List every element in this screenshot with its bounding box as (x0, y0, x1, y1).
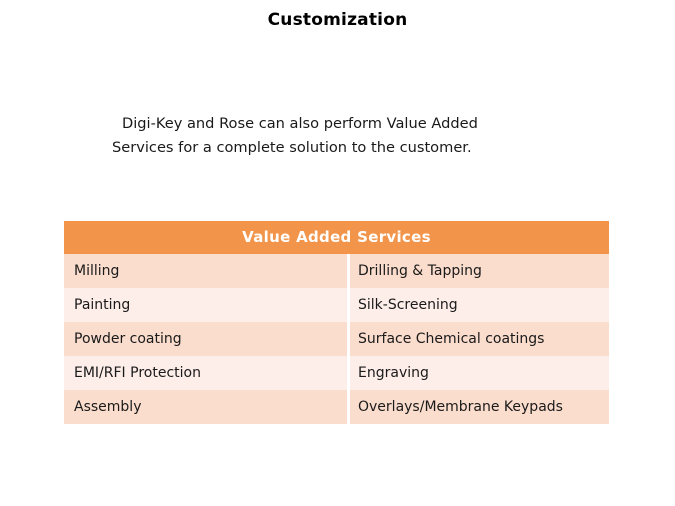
table-cell-service: Silk-Screening (349, 288, 610, 322)
slide-canvas: Customization Digi-Key and Rose can also… (0, 0, 675, 506)
table-header-row: Value Added Services (64, 221, 609, 254)
table-cell-service: Engraving (349, 356, 610, 390)
table-row: Assembly Overlays/Membrane Keypads (64, 390, 609, 424)
table-cell-service: EMI/RFI Protection (64, 356, 349, 390)
table-cell-service: Assembly (64, 390, 349, 424)
table-body: Milling Drilling & Tapping Painting Silk… (64, 254, 609, 424)
table-row: Milling Drilling & Tapping (64, 254, 609, 288)
table-cell-service: Surface Chemical coatings (349, 322, 610, 356)
table-row: EMI/RFI Protection Engraving (64, 356, 609, 390)
table-cell-service: Overlays/Membrane Keypads (349, 390, 610, 424)
table-header-cell: Value Added Services (64, 221, 609, 254)
page-title: Customization (0, 10, 675, 30)
table-cell-service: Milling (64, 254, 349, 288)
table-header-label: Value Added Services (64, 221, 609, 254)
table-cell-service: Painting (64, 288, 349, 322)
table-row: Powder coating Surface Chemical coatings (64, 322, 609, 356)
body-paragraph: Digi-Key and Rose can also perform Value… (112, 112, 582, 160)
table-cell-service: Powder coating (64, 322, 349, 356)
table-row: Painting Silk-Screening (64, 288, 609, 322)
value-added-services-table: Value Added Services Milling Drilling & … (64, 221, 609, 424)
table-cell-service: Drilling & Tapping (349, 254, 610, 288)
